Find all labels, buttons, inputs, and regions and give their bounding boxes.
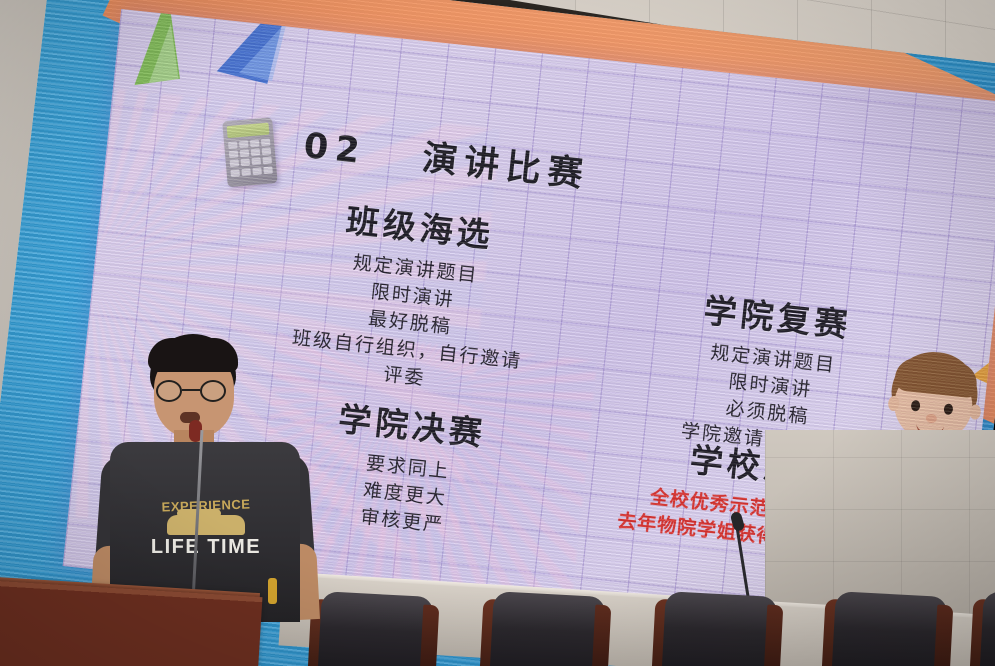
tank-icon — [167, 515, 245, 535]
presenter: EXPERIENCE LIFE TIME — [92, 330, 322, 620]
chair-frame-right — [419, 605, 439, 666]
calculator-display — [227, 123, 270, 139]
presenter-hair-fringe — [148, 338, 238, 372]
chair-frame-right — [763, 605, 783, 666]
chair-frame-right — [933, 605, 953, 666]
chair-back — [318, 591, 434, 666]
screenshot-stage: 02 演讲比赛 班级海选 规定演讲题目 限时演讲 最好脱稿 班级自行组织，自行邀… — [0, 0, 995, 666]
chair-back — [832, 591, 948, 666]
tshirt-graphic: EXPERIENCE LIFE TIME — [144, 498, 268, 559]
chair — [308, 583, 440, 666]
tshirt-text-bottom: LIFE TIME — [144, 536, 268, 559]
chair — [480, 583, 612, 666]
chair-frame-right — [591, 605, 611, 666]
chair — [822, 583, 954, 666]
chair — [970, 583, 995, 666]
boy-ear-right — [969, 404, 982, 420]
chair-back — [490, 591, 606, 666]
calculator-icon — [222, 117, 278, 187]
chair — [652, 583, 784, 666]
chair-row — [300, 586, 995, 666]
lanyard-badge — [268, 578, 277, 604]
round-glasses — [154, 380, 238, 402]
chair-back — [662, 591, 778, 666]
calculator-keys — [228, 139, 273, 177]
slide-section-number: 02 — [302, 126, 369, 172]
